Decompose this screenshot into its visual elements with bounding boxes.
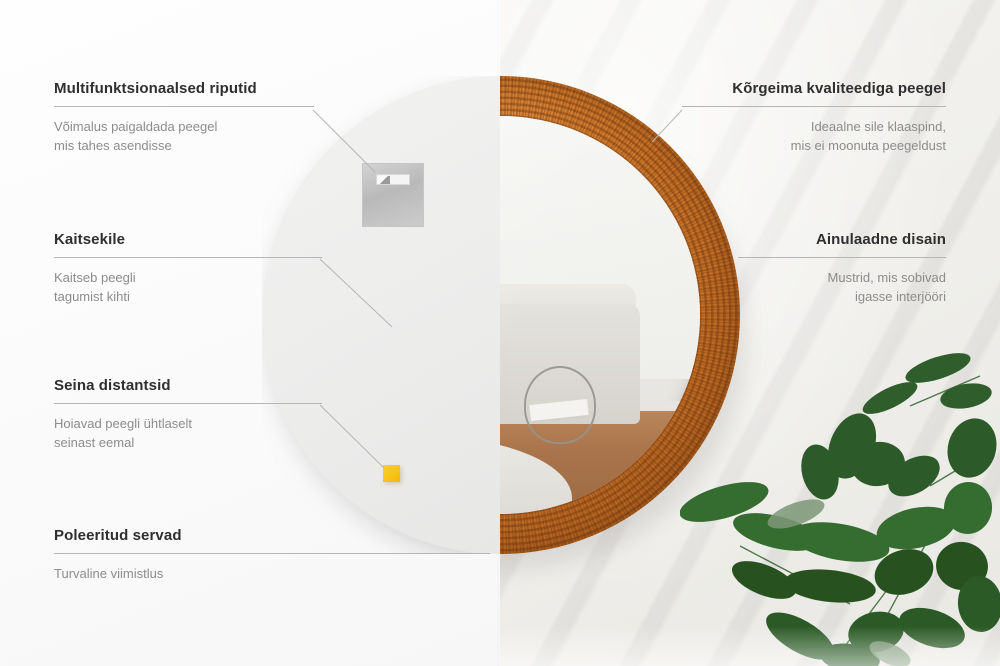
hanger-slot-icon xyxy=(376,174,410,185)
callout-description: Kaitseb peegli tagumist kihti xyxy=(54,268,322,306)
callout-polished-edges: Poleeritud servad Turvaline viimistlus xyxy=(54,527,490,583)
callout-rule xyxy=(54,553,490,554)
callout-title: Poleeritud servad xyxy=(54,527,490,544)
callout-rule xyxy=(54,257,322,258)
callout-title: Ainulaadne disain xyxy=(738,231,946,248)
callout-title: Kõrgeima kvaliteediga peegel xyxy=(682,80,946,97)
callout-rule xyxy=(682,106,946,107)
callout-title: Multifunktsionaalsed riputid xyxy=(54,80,314,97)
callout-title: Kaitsekile xyxy=(54,231,322,248)
photo-bottom-fade xyxy=(500,626,1000,666)
callout-description: Mustrid, mis sobivad igasse interjööri xyxy=(738,268,946,306)
callout-highest-quality-mirror: Kõrgeima kvaliteediga peegel Ideaalne si… xyxy=(682,80,946,155)
callout-description: Hoiavad peegli ühtlaselt seinast eemal xyxy=(54,414,322,452)
callout-rule xyxy=(54,106,314,107)
callout-protective-film: Kaitsekile Kaitseb peegli tagumist kihti xyxy=(54,231,322,306)
hanger-plate xyxy=(362,163,424,227)
callout-title: Seina distantsid xyxy=(54,377,322,394)
callout-unique-design: Ainulaadne disain Mustrid, mis sobivad i… xyxy=(738,231,946,306)
infographic-canvas: Multifunktsionaalsed riputid Võimalus pa… xyxy=(0,0,1000,666)
wall-spacer xyxy=(383,465,400,482)
callout-rule xyxy=(738,257,946,258)
callout-description: Ideaalne sile klaaspind, mis ei moonuta … xyxy=(682,117,946,155)
callout-wall-spacers: Seina distantsid Hoiavad peegli ühtlasel… xyxy=(54,377,322,452)
callout-description: Turvaline viimistlus xyxy=(54,564,490,583)
callout-description: Võimalus paigaldada peegel mis tahes ase… xyxy=(54,117,314,155)
callout-multifunctional-hangers: Multifunktsionaalsed riputid Võimalus pa… xyxy=(54,80,314,155)
callout-rule xyxy=(54,403,322,404)
